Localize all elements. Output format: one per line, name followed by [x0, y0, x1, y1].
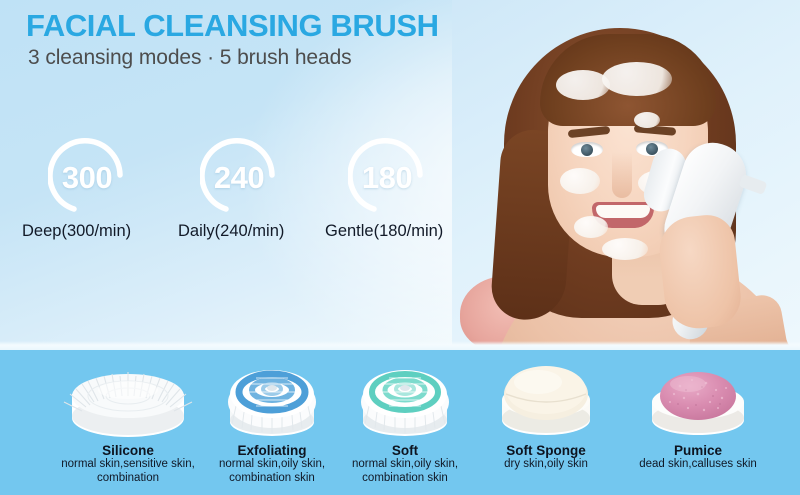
mode-number-gentle: 180 — [348, 160, 426, 196]
mode-badge-gentle: 180 — [348, 137, 426, 215]
soft-sponge-head-icon — [466, 350, 626, 442]
model-eye-left — [571, 142, 603, 157]
brush-head-title: Soft Sponge — [466, 443, 626, 458]
foam-blob — [560, 168, 600, 194]
silicone-brush-head-icon — [48, 350, 208, 442]
panel-divider — [0, 341, 800, 350]
foam-blob — [602, 238, 648, 260]
model-nose — [612, 152, 632, 198]
brush-heads-panel: Silicone normal skin,sensitive skin, com… — [0, 350, 800, 495]
page-subtitle: 3 cleansing modes · 5 brush heads — [28, 46, 352, 70]
model-teeth — [596, 205, 650, 218]
foam-blob — [602, 62, 672, 96]
brush-head-title: Pumice — [618, 443, 778, 458]
pumice-head-icon — [618, 350, 778, 442]
brush-head-desc: normal skin,sensitive skin, combination — [48, 458, 208, 485]
mode-label-gentle: Gentle(180/min) — [325, 222, 443, 241]
page-title: FACIAL CLEANSING BRUSH — [26, 8, 439, 44]
model-hand — [656, 212, 743, 331]
mode-number-daily: 240 — [200, 160, 278, 196]
brush-head-title: Soft — [325, 443, 485, 458]
mode-ring-arc-daily: 240 — [200, 137, 278, 215]
brush-head-item-silicone: Silicone normal skin,sensitive skin, com… — [48, 350, 208, 485]
mode-ring-arc-deep: 300 — [48, 137, 126, 215]
mode-label-deep: Deep(300/min) — [22, 222, 131, 241]
brush-head-item-pumice: Pumice dead skin,calluses skin — [618, 350, 778, 472]
brush-head-desc: dry skin,oily skin — [466, 458, 626, 472]
foam-blob — [574, 216, 608, 238]
foam-blob — [634, 112, 660, 128]
brush-head-item-soft-sponge: Soft Sponge dry skin,oily skin — [466, 350, 626, 472]
brush-head-item-soft: Soft normal skin,oily skin, combination … — [325, 350, 485, 485]
product-banner: FACIAL CLEANSING BRUSH 3 cleansing modes… — [0, 0, 800, 495]
mode-number-deep: 300 — [48, 160, 126, 196]
model-photo — [452, 0, 800, 349]
brush-head-desc: dead skin,calluses skin — [618, 458, 778, 472]
top-panel: FACIAL CLEANSING BRUSH 3 cleansing modes… — [0, 0, 800, 349]
mode-badge-deep: 300 — [48, 137, 126, 215]
mode-ring-arc-gentle: 180 — [348, 137, 426, 215]
brush-head-desc: normal skin,oily skin, combination skin — [325, 458, 485, 485]
mode-label-daily: Daily(240/min) — [178, 222, 284, 241]
soft-brush-head-icon — [325, 350, 485, 442]
mode-badge-daily: 240 — [200, 137, 278, 215]
brush-head-title: Silicone — [48, 443, 208, 458]
